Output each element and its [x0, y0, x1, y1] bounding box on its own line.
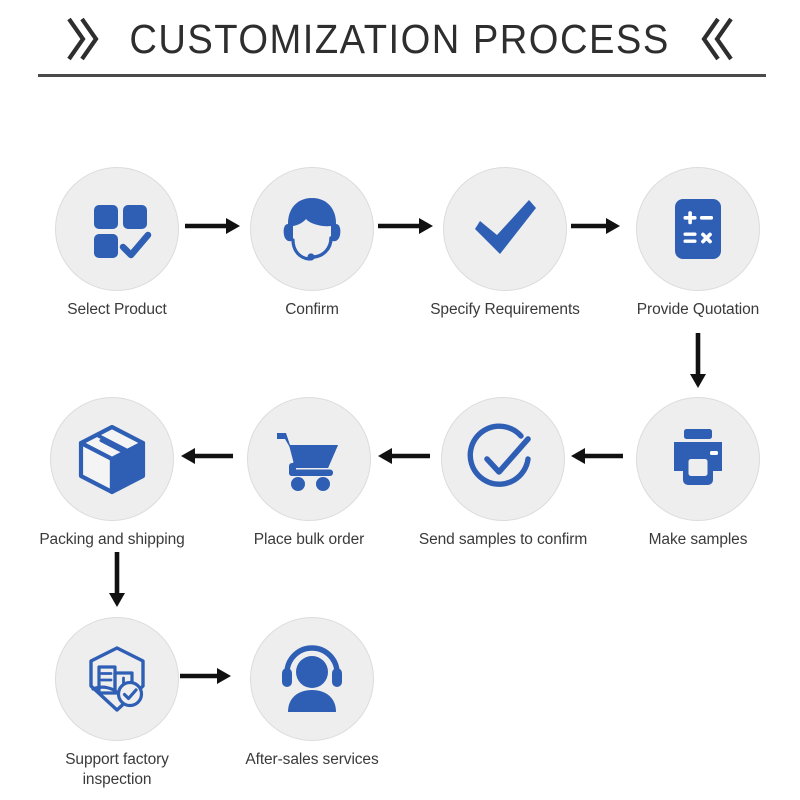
step-confirm[interactable]: Confirm	[222, 167, 402, 320]
calculator-icon	[663, 194, 733, 264]
process-flow: Select Product Confirm Sp	[0, 90, 800, 800]
step-icon-circle	[55, 167, 179, 291]
step-label: Send samples to confirm	[413, 530, 593, 550]
connector-arrow-right	[180, 666, 232, 686]
shopping-cart-icon	[272, 422, 346, 496]
connector-arrow-right	[571, 216, 621, 236]
step-specify-requirements[interactable]: Specify Requirements	[415, 167, 595, 320]
double-chevron-left-icon	[697, 16, 737, 62]
step-label: Select Product	[27, 300, 207, 320]
connector-arrow-right	[185, 216, 241, 236]
step-packing-shipping[interactable]: Packing and shipping	[22, 397, 202, 550]
double-chevron-right-icon	[63, 16, 103, 62]
connector-arrow-left	[181, 446, 233, 466]
step-icon-circle	[443, 167, 567, 291]
step-label: Provide Quotation	[608, 300, 788, 320]
connector-arrow-left	[571, 446, 623, 466]
headset-agent-icon	[275, 192, 349, 266]
step-send-samples[interactable]: Send samples to confirm	[413, 397, 593, 550]
step-after-sales[interactable]: After-sales services	[222, 617, 402, 770]
step-label: Place bulk order	[219, 530, 399, 550]
step-select-product[interactable]: Select Product	[27, 167, 207, 320]
step-label: Specify Requirements	[415, 300, 595, 320]
package-box-icon	[75, 422, 149, 496]
step-provide-quotation[interactable]: Provide Quotation	[608, 167, 788, 320]
grid-check-icon	[81, 193, 153, 265]
step-make-samples[interactable]: Make samples	[608, 397, 788, 550]
title-row: CUSTOMIZATION PROCESS	[0, 8, 800, 70]
checkmark-icon	[467, 191, 543, 267]
step-label: Packing and shipping	[22, 530, 202, 550]
step-icon-circle	[636, 167, 760, 291]
step-icon-circle	[247, 397, 371, 521]
circle-check-icon	[465, 421, 541, 497]
step-icon-circle	[441, 397, 565, 521]
step-icon-circle	[50, 397, 174, 521]
headphones-person-icon	[275, 642, 349, 716]
connector-arrow-right	[378, 216, 434, 236]
customization-process-infographic: CUSTOMIZATION PROCESS Select Prod	[0, 0, 800, 800]
connector-arrow-down	[107, 552, 127, 608]
step-label: Support factory inspection	[27, 750, 207, 791]
step-label: Make samples	[608, 530, 788, 550]
connector-arrow-down	[688, 333, 708, 389]
printer-icon	[662, 423, 734, 495]
step-factory-inspection[interactable]: Support factory inspection	[27, 617, 207, 791]
title-divider	[38, 74, 766, 77]
step-place-bulk-order[interactable]: Place bulk order	[219, 397, 399, 550]
step-icon-circle	[55, 617, 179, 741]
step-icon-circle	[250, 167, 374, 291]
page-header: CUSTOMIZATION PROCESS	[0, 0, 800, 90]
step-icon-circle	[636, 397, 760, 521]
step-label: Confirm	[222, 300, 402, 320]
page-title: CUSTOMIZATION PROCESS	[130, 16, 670, 63]
step-icon-circle	[250, 617, 374, 741]
step-label: After-sales services	[222, 750, 402, 770]
factory-shield-check-icon	[79, 641, 155, 717]
connector-arrow-left	[378, 446, 430, 466]
